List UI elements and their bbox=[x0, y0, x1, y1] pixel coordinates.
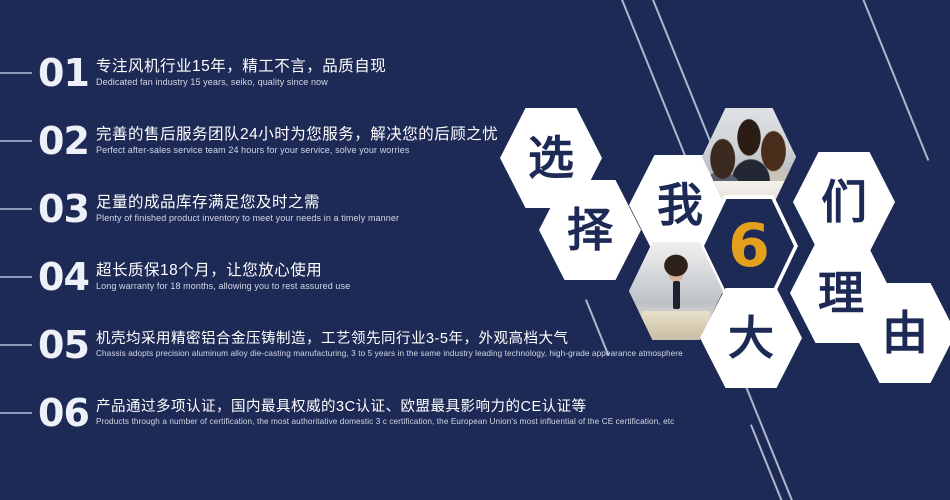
photo-necktie bbox=[673, 281, 680, 308]
hex-cell-men: 们 bbox=[793, 152, 895, 252]
photo-laptop bbox=[642, 311, 710, 336]
hex-glyph: 我 bbox=[657, 182, 703, 228]
hex-glyph: 们 bbox=[821, 179, 867, 225]
hex-glyph: 大 bbox=[728, 315, 774, 361]
hex-glyph: 择 bbox=[567, 207, 613, 253]
hex-glyph: 由 bbox=[882, 310, 928, 356]
hexagon-cluster: 选 择 我 6 们 bbox=[0, 0, 950, 500]
hex-glyph: 理 bbox=[818, 270, 864, 316]
banner-stage: 01 专注风机行业15年，精工不言，品质自现 Dedicated fan ind… bbox=[0, 0, 950, 500]
hex-glyph-number-six: 6 bbox=[728, 216, 770, 276]
hex-glyph: 选 bbox=[528, 135, 574, 181]
